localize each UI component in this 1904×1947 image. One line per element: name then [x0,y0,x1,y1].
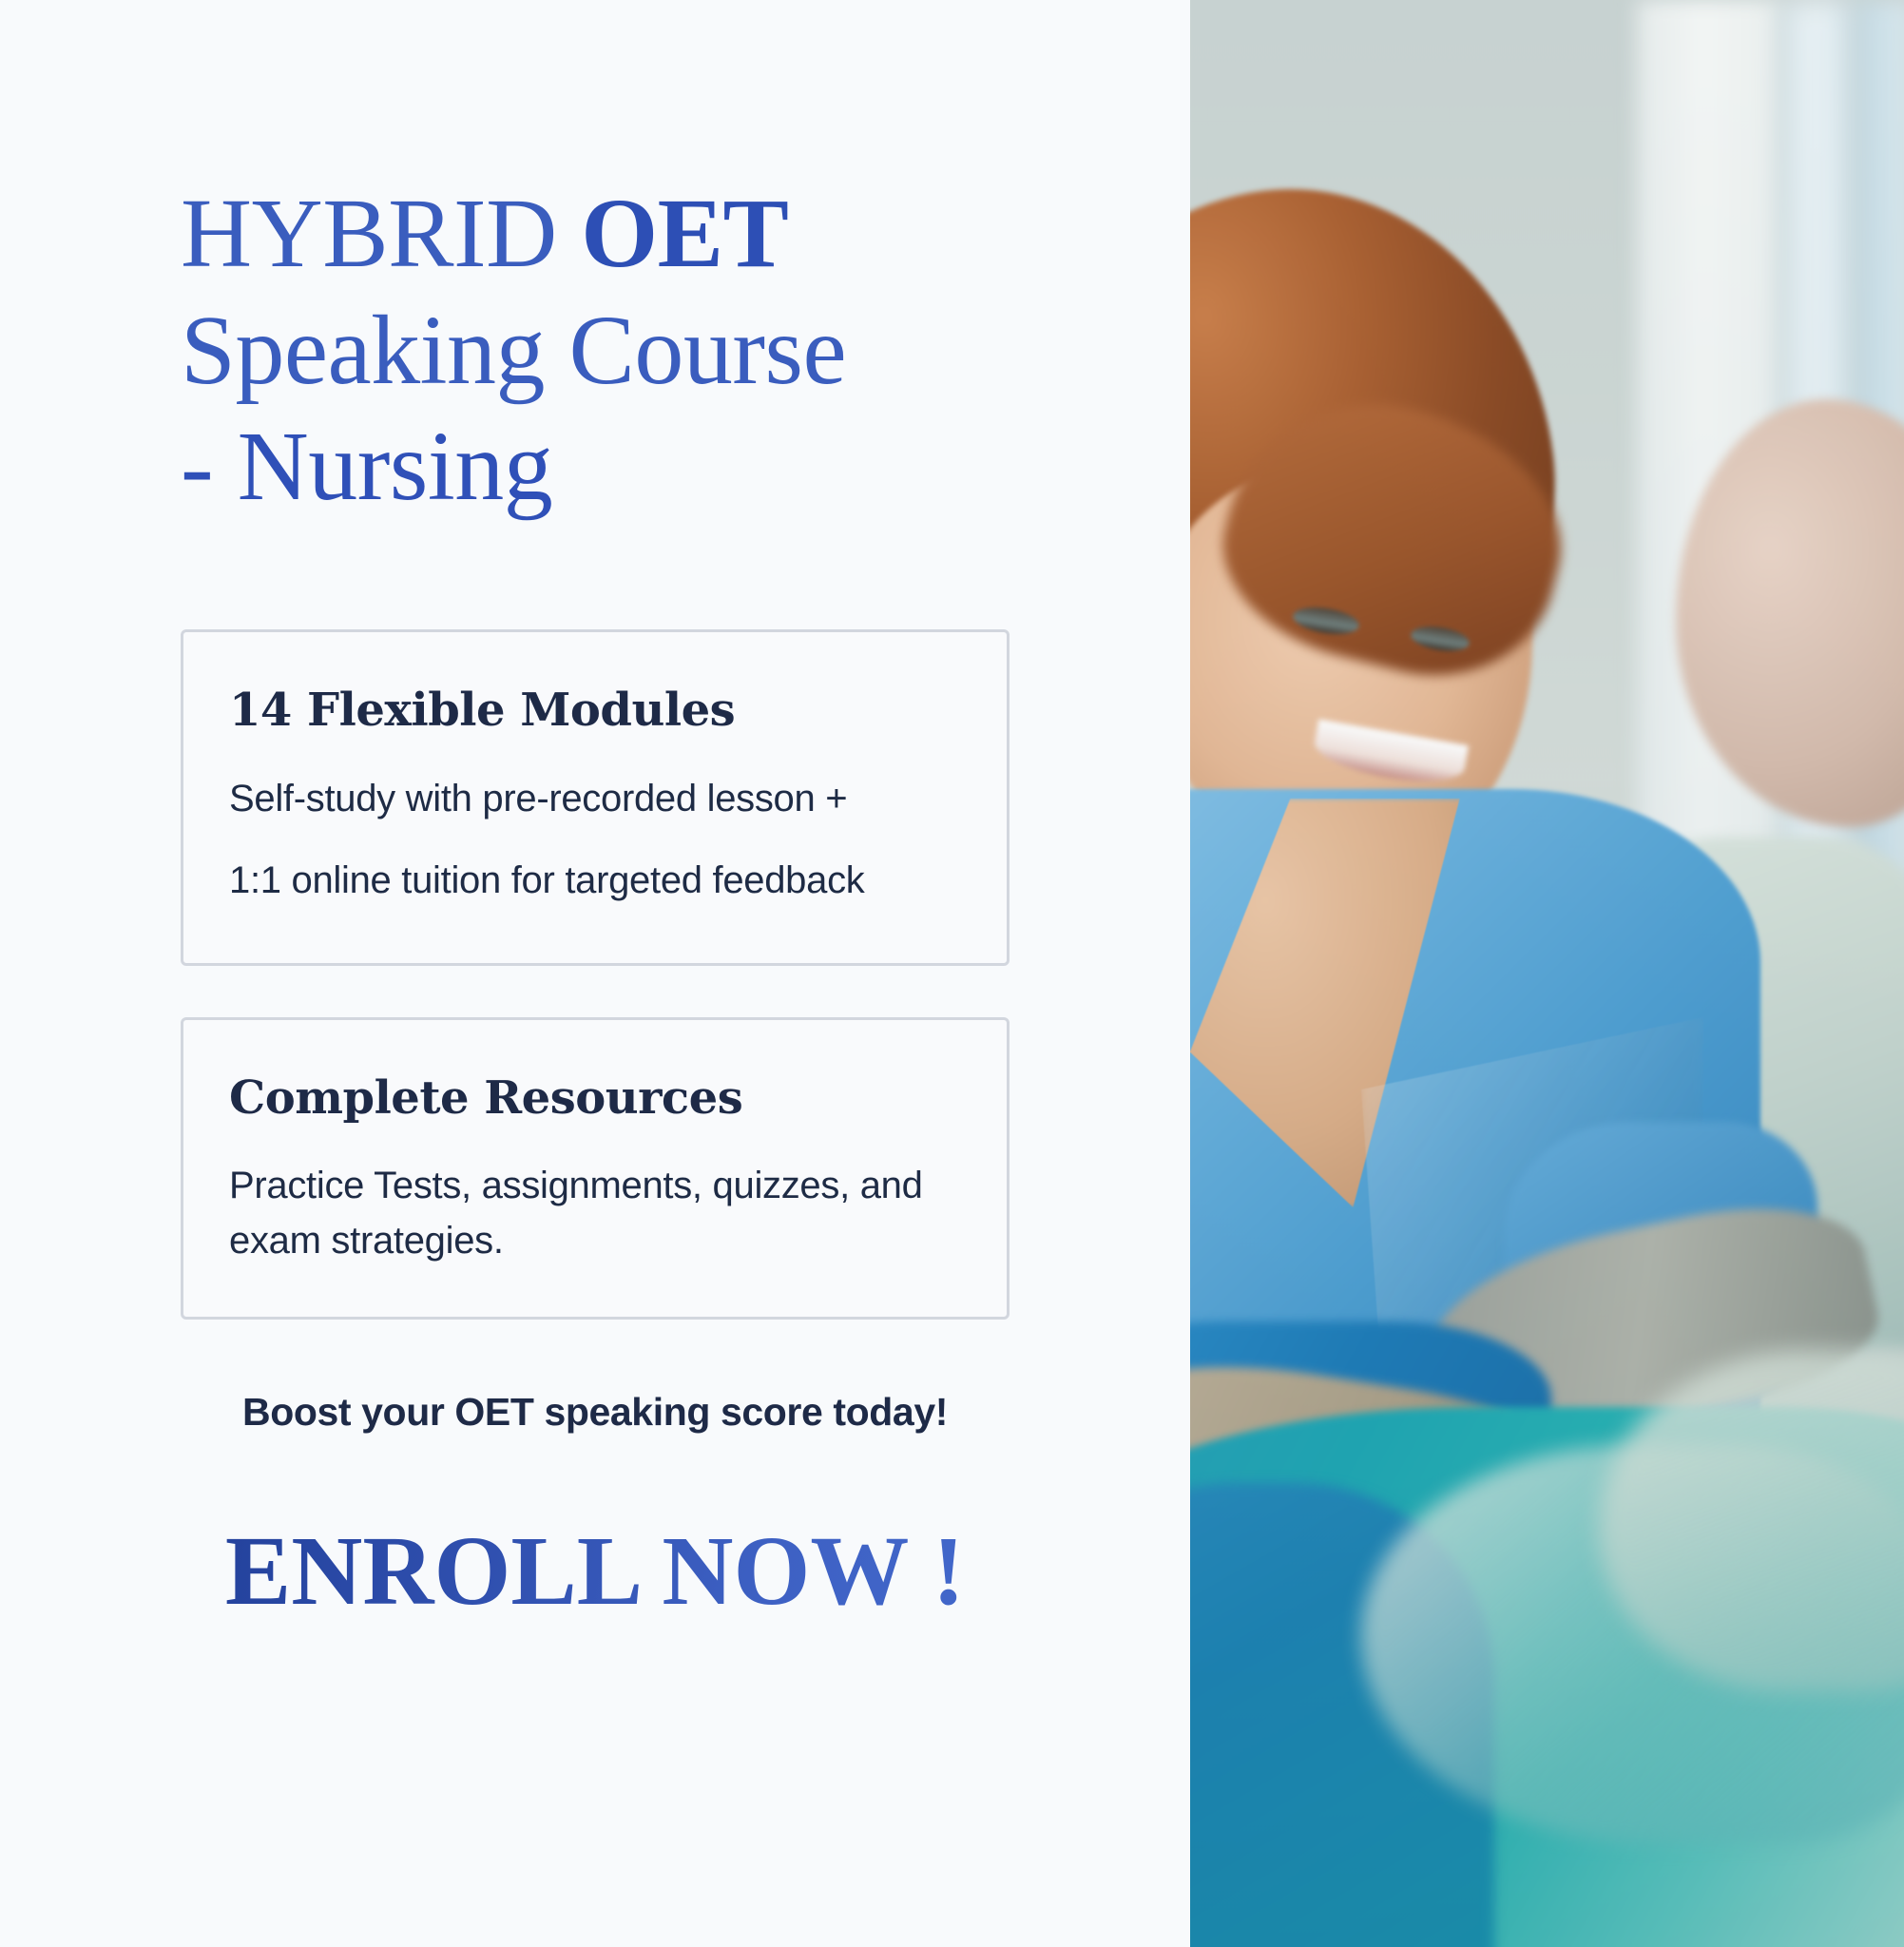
headline-line-3: - Nursing [181,409,1093,526]
enroll-now-button[interactable]: ENROLL NOW ! [181,1517,1010,1626]
feature-card-resources-title: Complete Resources [229,1073,961,1124]
feature-card-resources-text: Practice Tests, assignments, quizzes, an… [229,1158,961,1268]
hero-photo [1190,0,1904,1947]
headline-line-2: Speaking Course [181,293,1093,410]
promo-poster: HYBRID OET Speaking Course - Nursing 14 … [0,0,1904,1947]
feature-card-modules: 14 Flexible Modules Self-study with pre-… [181,629,1010,966]
headline-line-1: HYBRID OET [181,176,1093,293]
content-panel: HYBRID OET Speaking Course - Nursing 14 … [0,0,1190,1947]
feature-card-modules-line-1: Self-study with pre-recorded lesson + [229,770,961,827]
tagline: Boost your OET speaking score today! [181,1390,1010,1435]
feature-card-resources: Complete Resources Practice Tests, assig… [181,1017,1010,1320]
page-title: HYBRID OET Speaking Course - Nursing [181,176,1093,526]
headline-oet: OET [581,179,788,288]
headline-hybrid: HYBRID [181,179,581,288]
feature-card-modules-line-2: 1:1 online tuition for targeted feedback [229,852,961,909]
feature-card-modules-title: 14 Flexible Modules [229,685,961,736]
